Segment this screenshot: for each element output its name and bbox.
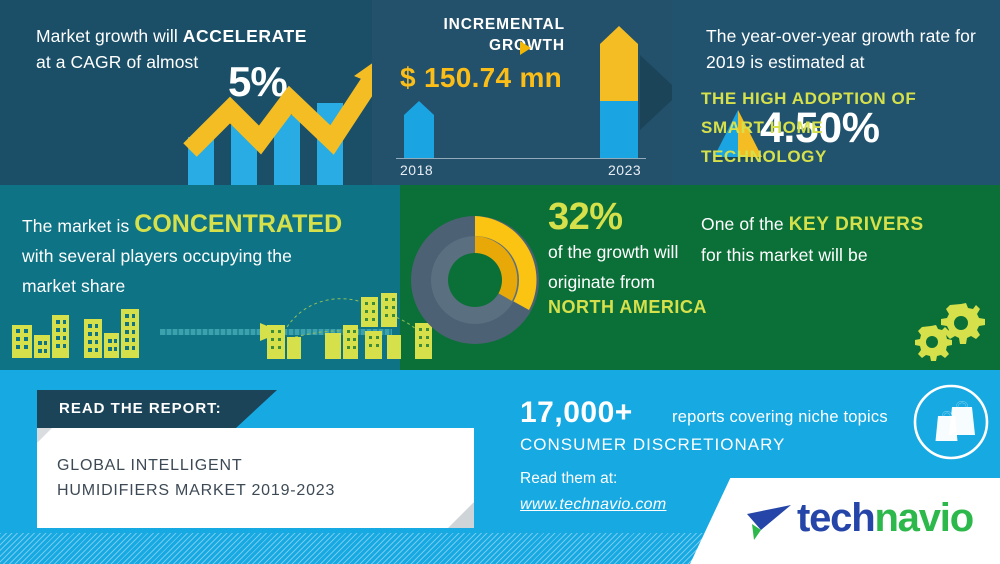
technavio-logo: technavio — [745, 492, 990, 550]
incremental-growth-title-line1: INCREMENTAL — [443, 16, 565, 33]
website-url-link[interactable]: www.technavio.com — [520, 496, 667, 514]
cagr-text-after: at a CAGR of almost — [36, 52, 198, 72]
paper-plane-icon — [745, 502, 793, 542]
region-donut-chart — [398, 205, 553, 355]
city-buildings-icon-left — [10, 303, 160, 358]
cagr-text-before: Market growth will — [36, 26, 183, 46]
chart-axis-line — [396, 158, 646, 159]
reports-count: 17,000+ — [520, 396, 633, 430]
region-percent: 32% — [548, 196, 623, 239]
shopping-bags-icon — [912, 383, 990, 461]
logo-text-part2: navio — [874, 496, 972, 540]
region-name: NORTH AMERICA — [548, 297, 707, 318]
drivers-detail-line2: SMART HOME — [701, 118, 823, 137]
read-the-report-label: READ THE REPORT: — [59, 400, 222, 417]
bar-2018 — [404, 101, 434, 158]
reports-count-suffix: reports covering niche topics — [672, 408, 888, 427]
gears-icon — [915, 300, 985, 362]
drivers-detail: THE HIGH ADOPTION OF SMART HOME TECHNOLO… — [701, 84, 961, 171]
read-them-at-label: Read them at: — [520, 470, 617, 488]
drivers-text-before: One of the — [701, 214, 789, 234]
yoy-text: The year-over-year growth rate for 2019 … — [706, 23, 981, 75]
year-label-2018: 2018 — [400, 162, 433, 178]
concentration-keyword: CONCENTRATED — [134, 210, 342, 238]
incremental-growth-title: INCREMENTAL GROWTH — [400, 14, 565, 56]
footer-stripe-band — [0, 533, 760, 564]
growth-arrow-icon — [182, 32, 372, 185]
card-fold-bottom-right-icon — [448, 502, 474, 528]
region-description-line2: originate from — [548, 272, 655, 292]
play-triangle-icon — [520, 41, 531, 55]
report-card[interactable]: GLOBAL INTELLIGENT HUMIDIFIERS MARKET 20… — [37, 428, 474, 528]
concentration-text-line1: with several players occupying the — [22, 246, 292, 266]
panel-cagr: Market growth will ACCELERATE at a CAGR … — [0, 0, 372, 185]
card-fold-top-left-icon — [37, 428, 52, 443]
infographic-canvas: Market growth will ACCELERATE at a CAGR … — [0, 0, 1000, 564]
report-title: GLOBAL INTELLIGENT HUMIDIFIERS MARKET 20… — [57, 453, 457, 503]
year-label-2023: 2023 — [608, 162, 641, 178]
report-title-line2: HUMIDIFIERS MARKET 2019-2023 — [57, 482, 335, 499]
logo-text-part1: tech — [797, 496, 874, 540]
drivers-keyword: KEY DRIVERS — [789, 214, 924, 235]
concentration-text-line2: market share — [22, 276, 125, 296]
sector-label: CONSUMER DISCRETIONARY — [520, 435, 785, 455]
drivers-detail-line3: TECHNOLOGY — [701, 147, 827, 166]
drivers-text-after: for this market will be — [701, 245, 868, 265]
growth-bar-chart — [186, 104, 351, 185]
drivers-text: One of the KEY DRIVERS for this market w… — [701, 209, 981, 270]
region-description: of the growth will originate from — [548, 237, 708, 297]
report-title-line1: GLOBAL INTELLIGENT — [57, 457, 242, 474]
concentration-text-before: The market is — [22, 216, 134, 236]
drivers-detail-line1: THE HIGH ADOPTION OF — [701, 89, 916, 108]
technavio-wordmark: technavio — [797, 496, 973, 541]
incremental-growth-value: $ 150.74 mn — [400, 62, 562, 94]
bar-2023 — [600, 26, 638, 158]
region-description-line1: of the growth will — [548, 242, 678, 262]
